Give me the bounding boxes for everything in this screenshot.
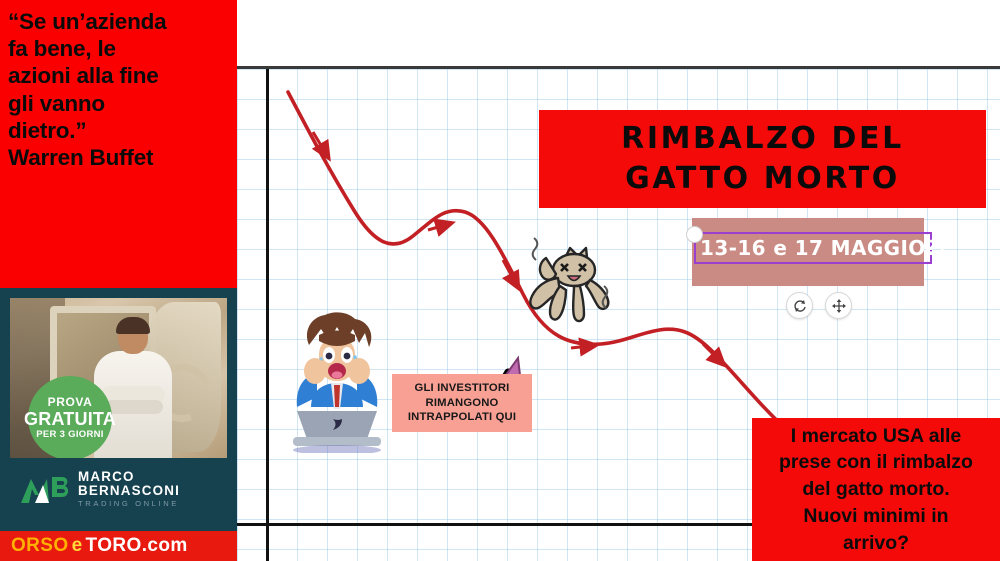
promo-photo: PROVA GRATUITA PER 3 GIORNI: [10, 298, 227, 458]
title-line-2: GATTO MORTO: [625, 159, 900, 199]
move-icon[interactable]: [825, 292, 852, 319]
quote-line-2: fa bene, le: [8, 35, 231, 62]
rotate-icon[interactable]: [786, 292, 813, 319]
quote-line-3: azioni alla fine: [8, 62, 231, 89]
slide-canvas: “Se un’azienda fa bene, le azioni alla f…: [0, 0, 1000, 561]
site-name-toro: TORO: [86, 535, 142, 557]
site-name-tld: .com: [142, 535, 188, 557]
brand-name: MARCO BERNASCONI: [78, 470, 227, 498]
object-tool-buttons: [786, 292, 852, 319]
buffett-quote-panel: “Se un’azienda fa bene, le azioni alla f…: [0, 0, 237, 288]
badge-line-3: PER 3 GIORNI: [36, 430, 103, 440]
title-line-1: RIMBALZO DEL: [621, 119, 904, 159]
quote-attribution: Warren Buffet: [8, 144, 231, 171]
panicked-investor-illustration: [285, 311, 389, 453]
callout-line-1: GLI INVESTITORI: [415, 381, 510, 396]
title-banner[interactable]: RIMBALZO DEL GATTO MORTO: [539, 110, 986, 208]
usa-line-2: prese con il rimbalzo: [779, 449, 973, 476]
text-caret: [926, 235, 930, 261]
usa-line-1: I mercato USA alle: [791, 423, 962, 450]
brand-subtitle: TRADING ONLINE: [78, 500, 227, 508]
badge-line-1: PROVA: [48, 396, 93, 408]
quote-line-4: gli vanno: [8, 90, 231, 117]
quote-line-5: dietro.”: [8, 117, 231, 144]
callout-line-3: INTRAPPOLATI QUI: [408, 410, 516, 425]
dead-cat-illustration: [516, 234, 614, 330]
investor-callout[interactable]: GLI INVESTITORI RIMANGONO INTRAPPOLATI Q…: [392, 374, 532, 432]
usa-market-box[interactable]: I mercato USA alle prese con il rimbalzo…: [752, 418, 1000, 561]
date-textbox-value: 13-16 e 17 MAGGIO?!: [696, 236, 947, 260]
free-trial-badge: PROVA GRATUITA PER 3 GIORNI: [28, 376, 112, 458]
usa-line-5: arrivo?: [843, 530, 909, 557]
mb-logo-icon: [19, 473, 71, 505]
quote-line-1: “Se un’azienda: [8, 8, 231, 35]
date-textbox[interactable]: 13-16 e 17 MAGGIO?!: [694, 232, 932, 264]
site-name-orso: ORSO: [11, 535, 69, 557]
usa-line-4: Nuovi minimi in: [803, 503, 948, 530]
site-watermark-bar[interactable]: ORSO e TORO .com: [0, 531, 237, 561]
brand-bar: MARCO BERNASCONI TRADING ONLINE: [10, 460, 227, 518]
promo-card[interactable]: PROVA GRATUITA PER 3 GIORNI MARCO BERNAS…: [0, 288, 237, 531]
badge-line-2: GRATUITA: [24, 410, 116, 428]
usa-line-3: del gatto morto.: [802, 476, 949, 503]
selection-handle[interactable]: [686, 226, 703, 243]
callout-line-2: RIMANGONO: [426, 396, 499, 411]
site-name-e: e: [72, 535, 83, 557]
